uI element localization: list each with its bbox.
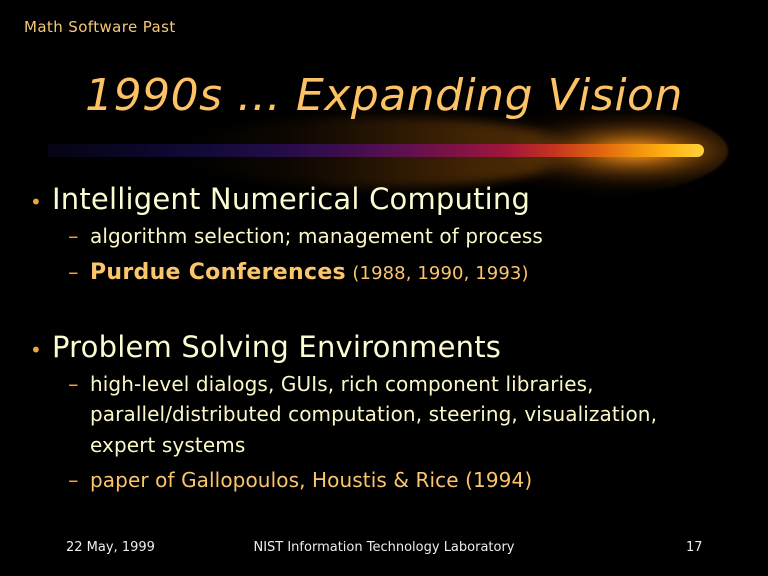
presentation-slide: Math Software Past 1990s … Expanding Vis…: [0, 0, 768, 576]
footer-page-number: 17: [686, 540, 703, 555]
bullet-item-level2: – paper of Gallopoulos, Houstis & Rice (…: [0, 465, 768, 495]
footer-organization: NIST Information Technology Laboratory: [0, 540, 768, 555]
dash-marker-icon: –: [68, 226, 90, 247]
dash-marker-icon: –: [68, 262, 90, 283]
bullet-level2-label: paper of Gallopoulos, Houstis & Rice (19…: [90, 465, 532, 495]
bullet-dot-icon: •: [30, 340, 52, 360]
bullet-item-level1: • Problem Solving Environments: [0, 330, 768, 364]
purdue-conference-years: (1988, 1990, 1993): [352, 263, 528, 284]
bullet-item-level2: – high-level dialogs, GUIs, rich compone…: [0, 369, 768, 460]
bullet-dot-icon: •: [30, 192, 52, 212]
group-spacer: [0, 296, 768, 330]
bullet-item-level2: – Purdue Conferences (1988, 1990, 1993): [0, 256, 768, 289]
content-group: • Intelligent Numerical Computing – algo…: [0, 182, 768, 290]
content-group: • Problem Solving Environments – high-le…: [0, 330, 768, 496]
bullet-level1-label: Problem Solving Environments: [52, 330, 501, 364]
bullet-item-level1: • Intelligent Numerical Computing: [0, 182, 768, 216]
bullet-level1-label: Intelligent Numerical Computing: [52, 182, 530, 216]
bullet-level2-label: high-level dialogs, GUIs, rich component…: [90, 369, 690, 460]
slide-footer: 22 May, 1999 NIST Information Technology…: [0, 540, 768, 562]
gradient-divider-bar: [48, 144, 704, 157]
bullet-level2-label: Purdue Conferences (1988, 1990, 1993): [90, 256, 529, 289]
purdue-conferences-label: Purdue Conferences: [90, 260, 346, 285]
dash-marker-icon: –: [68, 374, 90, 395]
slide-kicker: Math Software Past: [24, 18, 176, 36]
bullet-item-level2: – algorithm selection; management of pro…: [0, 221, 768, 251]
dash-marker-icon: –: [68, 470, 90, 491]
slide-body: • Intelligent Numerical Computing – algo…: [0, 182, 768, 501]
slide-title: 1990s … Expanding Vision: [0, 70, 768, 121]
bullet-level2-label: algorithm selection; management of proce…: [90, 221, 543, 251]
